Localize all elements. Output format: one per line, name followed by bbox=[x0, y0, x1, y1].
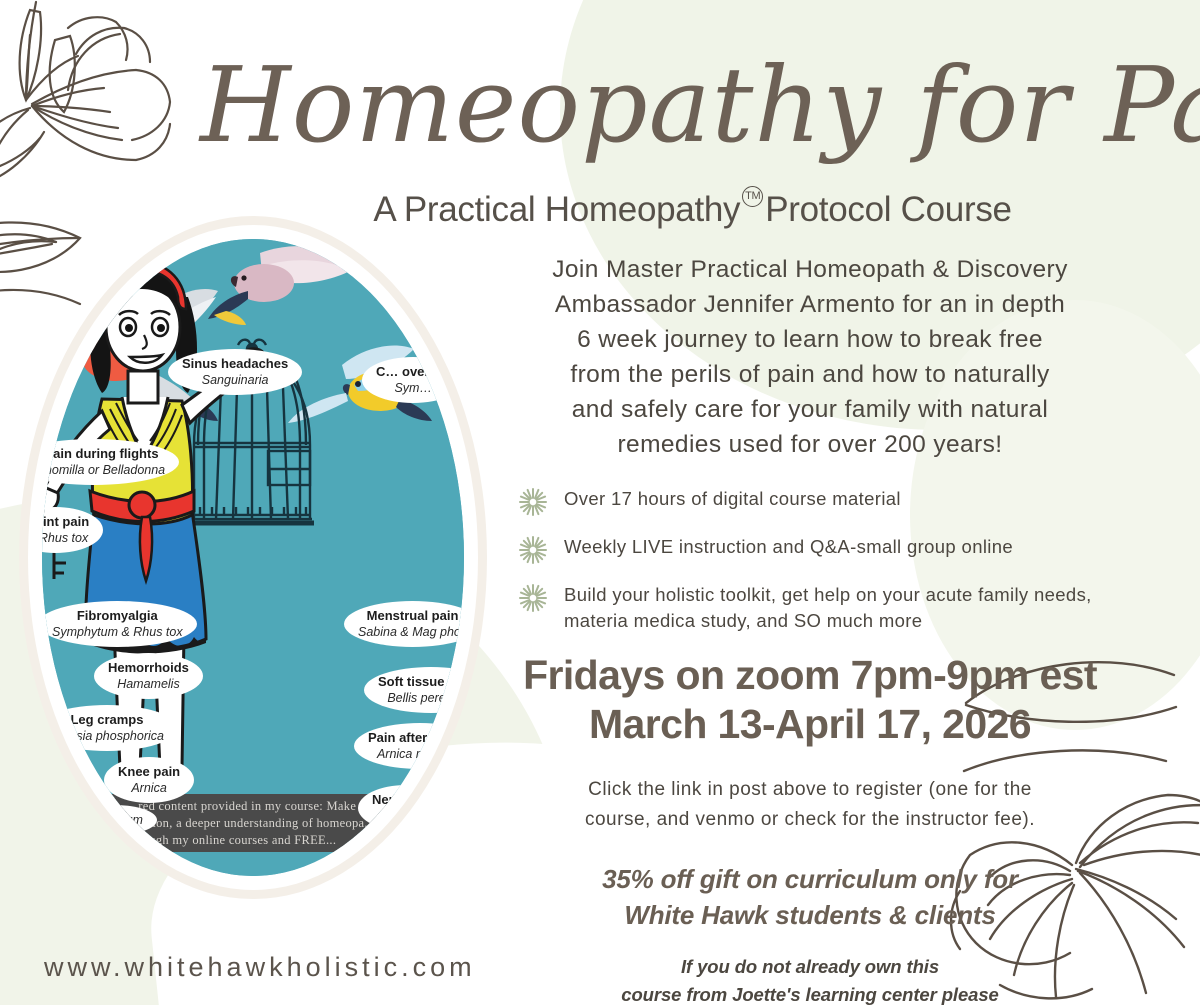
feature-list: Over 17 hours of digital course material bbox=[460, 486, 1160, 634]
intro-line: and safely care for your family with nat… bbox=[460, 392, 1160, 427]
note-line: If you do not already own this bbox=[460, 953, 1160, 981]
intro-line: 6 week journey to learn how to break fre… bbox=[460, 322, 1160, 357]
callout-remedy: Arnica monta… bbox=[368, 746, 464, 762]
callout-condition: Nerve pa… bbox=[372, 792, 440, 808]
callout-remedy: … Rhus tox bbox=[42, 530, 89, 546]
website-url[interactable]: www.whitehawkholistic.com bbox=[44, 952, 476, 983]
callout-condition: Soft tissue inju… bbox=[378, 674, 464, 690]
callout-condition: Leg cramps bbox=[50, 712, 164, 728]
offer-line: 35% off gift on curriculum only for bbox=[460, 861, 1160, 897]
schedule-dates: March 13-April 17, 2026 bbox=[460, 700, 1160, 749]
callout-remedy: …nesia phosphorica bbox=[50, 728, 164, 744]
flyer-canvas: Homeopathy for Pain A Practical Homeopat… bbox=[0, 0, 1200, 1005]
intro-line: remedies used for over 200 years! bbox=[460, 427, 1160, 462]
illustration-oval: ...red content provided in my course: Ma… bbox=[28, 225, 478, 890]
callout-remedy: Sabina & Mag phos bbox=[358, 624, 464, 640]
callout-remedy: …amomilla or Belladonna bbox=[42, 462, 165, 478]
intro-line: from the perils of pain and how to natur… bbox=[460, 357, 1160, 392]
callout-condition: … pain during flights bbox=[42, 446, 165, 462]
callout-fibromyalgia: Fibromyalgia Symphytum & Rhus tox bbox=[42, 601, 197, 647]
callout-remedy: Hamamelis bbox=[108, 676, 189, 692]
callout-remedy: Symphytum & Rhus tox bbox=[52, 624, 183, 640]
list-item-label: Over 17 hours of digital course material bbox=[564, 486, 901, 512]
intro-paragraph: Join Master Practical Homeopath & Discov… bbox=[460, 252, 1160, 462]
callout-carpal-overuse: C… overu… Sym… bbox=[362, 357, 464, 403]
callout-remedy: …horicum bbox=[86, 812, 143, 828]
daisy-starburst-icon bbox=[518, 535, 548, 565]
registration-instructions: Click the link in post above to register… bbox=[460, 775, 1160, 835]
callout-remedy: Sanguinaria bbox=[182, 372, 288, 388]
registration-line: Click the link in post above to register… bbox=[460, 775, 1160, 805]
list-item-label: Build your holistic toolkit, get help on… bbox=[564, 582, 1160, 634]
callout-condition: Sinus headaches bbox=[182, 356, 288, 372]
page-title: Homeopathy for Pain bbox=[200, 52, 1180, 158]
callout-knee-pain: Knee pain Arnica bbox=[104, 757, 194, 803]
callout-remedy: Arnica bbox=[118, 780, 180, 796]
note-line: course from Joette's learning center ple… bbox=[460, 981, 1160, 1005]
page-subtitle: A Practical HomeopathyTMProtocol Course bbox=[200, 190, 1185, 230]
callout-condition: Pain after surg… bbox=[368, 730, 464, 746]
intro-line: Join Master Practical Homeopath & Discov… bbox=[460, 252, 1160, 287]
callout-condition: Menstrual pain bbox=[358, 608, 464, 624]
list-item-label: Weekly LIVE instruction and Q&A-small gr… bbox=[564, 534, 1013, 560]
discount-offer: 35% off gift on curriculum only for Whit… bbox=[460, 861, 1160, 933]
schedule-block: Fridays on zoom 7pm-9pm est March 13-Apr… bbox=[460, 651, 1160, 749]
registration-line: course, and venmo or check for the instr… bbox=[460, 805, 1160, 835]
callout-nerve-pain: Nerve pa… Hyperic… bbox=[358, 785, 454, 831]
callout-condition: Fibromyalgia bbox=[52, 608, 183, 624]
intro-line: Ambassador Jennifer Armento for an in de… bbox=[460, 287, 1160, 322]
daisy-starburst-icon bbox=[518, 487, 548, 517]
callout-condition: …oint pain bbox=[42, 514, 89, 530]
subtitle-post-text: Protocol Course bbox=[765, 190, 1011, 229]
trademark-icon: TM bbox=[742, 186, 763, 207]
callout-condition: Knee pain bbox=[118, 764, 180, 780]
callout-remedy: Bellis perenni… bbox=[378, 690, 464, 706]
list-item: Weekly LIVE instruction and Q&A-small gr… bbox=[518, 534, 1160, 565]
callout-sinus-headaches: Sinus headaches Sanguinaria bbox=[168, 349, 302, 395]
schedule-time: Fridays on zoom 7pm-9pm est bbox=[460, 651, 1160, 700]
prerequisite-note: If you do not already own this course fr… bbox=[460, 953, 1160, 1005]
callout-remedy: Hyperic… bbox=[372, 808, 440, 824]
callout-hemorrhoids: Hemorrhoids Hamamelis bbox=[94, 653, 203, 699]
daisy-starburst-icon bbox=[518, 583, 548, 613]
illustration-content: ...red content provided in my course: Ma… bbox=[42, 239, 464, 876]
list-item: Build your holistic toolkit, get help on… bbox=[518, 582, 1160, 634]
callout-leg-cramps: Leg cramps …nesia phosphorica bbox=[42, 705, 178, 751]
subtitle-pre-text: A Practical Homeopathy bbox=[373, 190, 740, 229]
list-item: Over 17 hours of digital course material bbox=[518, 486, 1160, 517]
callout-condition: C… overu… bbox=[376, 364, 450, 380]
right-content-column: Join Master Practical Homeopath & Discov… bbox=[460, 252, 1160, 1005]
callout-remedy: Sym… bbox=[376, 380, 450, 396]
offer-line: White Hawk students & clients bbox=[460, 897, 1160, 933]
callout-condition: Hemorrhoids bbox=[108, 660, 189, 676]
callout-foot-pain: …horicum bbox=[72, 805, 157, 835]
